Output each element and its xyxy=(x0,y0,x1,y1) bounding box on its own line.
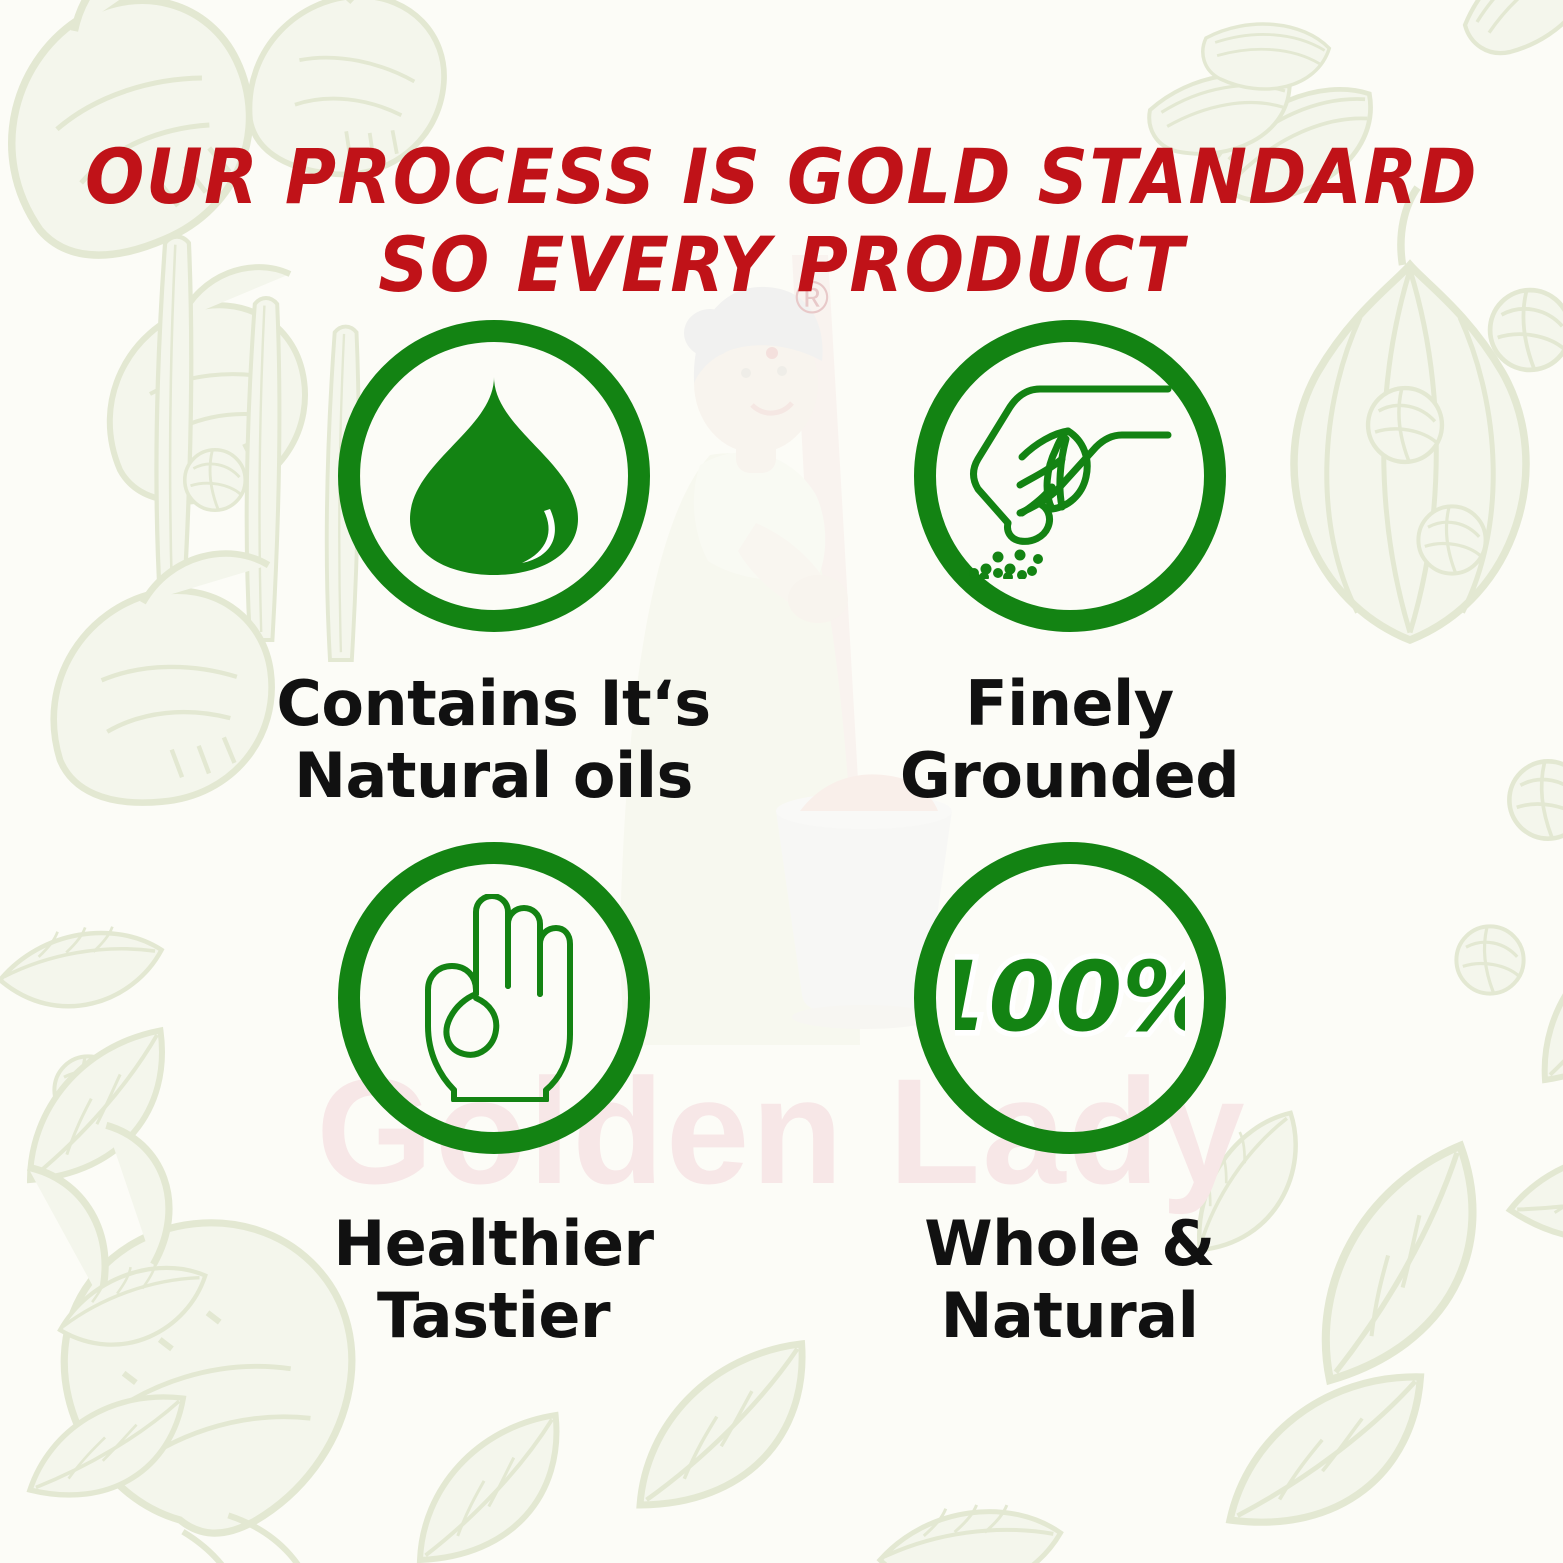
hundred-percent-label: 100% xyxy=(955,941,1185,1053)
feature-badge-circle: 100% xyxy=(914,842,1226,1154)
feature-badge-circle xyxy=(338,842,650,1154)
feature-item-finely-grounded: Finely Grounded xyxy=(790,320,1350,812)
feature-caption: Contains It‘s Natural oils xyxy=(276,668,710,812)
feature-badge-circle xyxy=(914,320,1226,632)
feature-caption: Whole & Natural xyxy=(924,1208,1215,1352)
hundred-percent-icon: 100% xyxy=(955,938,1185,1058)
feature-caption-line-1: Healthier xyxy=(333,1208,653,1280)
feature-grid: Contains It‘s Natural oils xyxy=(0,320,1563,1352)
feature-caption-line-1: Finely xyxy=(900,668,1239,740)
feature-caption-line-2: Tastier xyxy=(333,1280,653,1352)
feature-badge-circle xyxy=(338,320,650,632)
feature-item-natural-oils: Contains It‘s Natural oils xyxy=(214,320,774,812)
page-title: OUR PROCESS IS GOLD STANDARD SO EVERY PR… xyxy=(63,133,1501,309)
feature-caption: Healthier Tastier xyxy=(333,1208,653,1352)
feature-item-whole-natural: 100% Whole & Natural xyxy=(790,842,1350,1352)
feature-caption-line-1: Whole & xyxy=(924,1208,1215,1280)
feature-item-healthier-tastier: Healthier Tastier xyxy=(214,842,774,1352)
feature-caption-line-2: Natural oils xyxy=(276,740,710,812)
hand-sprinkling-powder-icon xyxy=(962,373,1178,579)
feature-row-1: Contains It‘s Natural oils xyxy=(0,320,1563,812)
feature-caption-line-2: Natural xyxy=(924,1280,1215,1352)
infographic-poster: Golden Lady ® OUR PROCESS IS GOLD STANDA… xyxy=(0,0,1563,1563)
ok-hand-gesture-icon xyxy=(410,894,578,1102)
feature-row-2: Healthier Tastier 100% Whole & Natural xyxy=(0,842,1563,1352)
feature-caption-line-1: Contains It‘s xyxy=(276,668,710,740)
oil-droplet-icon xyxy=(400,371,588,581)
feature-caption: Finely Grounded xyxy=(900,668,1239,812)
headline-line-1: OUR PROCESS IS GOLD STANDARD xyxy=(63,133,1501,221)
feature-caption-line-2: Grounded xyxy=(900,740,1239,812)
headline-line-2: SO EVERY PRODUCT xyxy=(63,221,1501,309)
